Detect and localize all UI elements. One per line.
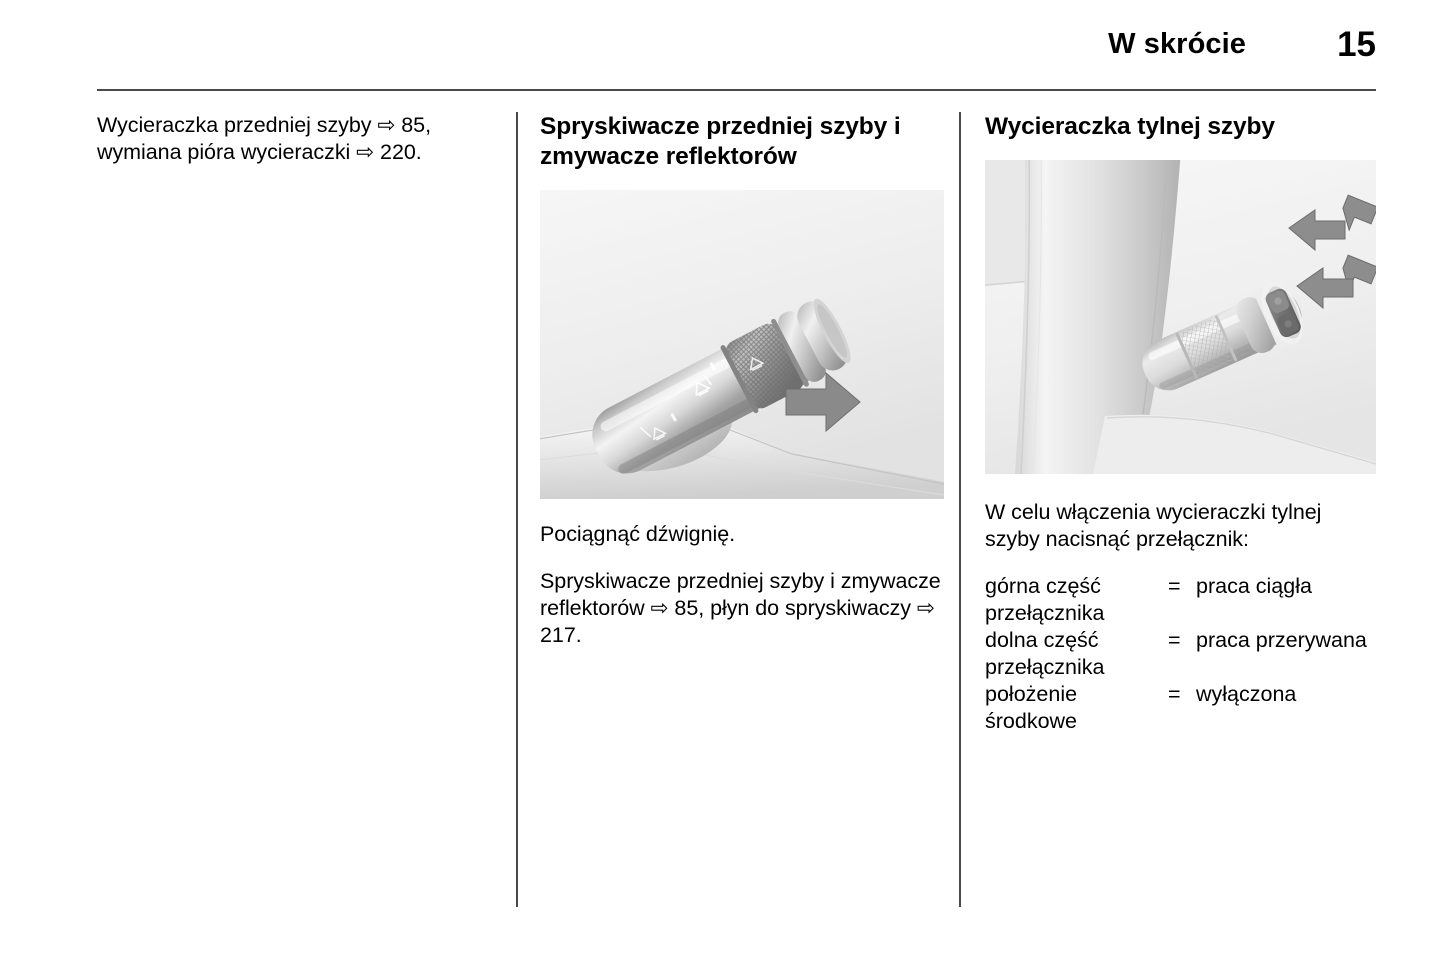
washer-reference-text: Spryskiwacze przedniej szyby i zmywacze … (540, 568, 944, 649)
pull-lever-instruction: Pociągnąć dźwignię. (540, 521, 944, 548)
page-header: W skrócie 15 (97, 28, 1376, 78)
setting-term: położenie środkowe (985, 681, 1165, 735)
setting-definition: praca przerywana (1196, 627, 1381, 654)
front-wiper-reference-text: Wycieraczka przedniej szyby ⇨ 85, wymian… (97, 112, 492, 166)
rear-wiper-section-heading: Wycieraczka tylnej szyby (985, 112, 1376, 142)
setting-equals-sign: = (1168, 681, 1181, 708)
header-divider-rule (97, 89, 1376, 91)
switch-settings-list: górna część przełącznika = praca ciągła … (985, 573, 1376, 735)
rear-wiper-instruction: W celu włączenia wycieraczki tylnej szyb… (985, 499, 1376, 553)
setting-equals-sign: = (1168, 627, 1181, 654)
setting-row: dolna część przełącznika = praca przeryw… (985, 627, 1376, 681)
page-title: W skrócie (1108, 28, 1246, 61)
column-middle: Spryskiwacze przedniej szyby i zmywacze … (540, 112, 944, 669)
setting-definition: praca ciągła (1196, 573, 1381, 600)
column-right: Wycieraczka tylnej szyby (985, 112, 1376, 735)
setting-definition: wyłączona (1196, 681, 1381, 708)
column-divider-left (516, 112, 518, 907)
setting-term: dolna część przełącznika (985, 627, 1165, 681)
column-left: Wycieraczka przedniej szyby ⇨ 85, wymian… (97, 112, 492, 186)
setting-row: położenie środkowe = wyłączona (985, 681, 1376, 735)
column-divider-right (959, 112, 961, 907)
setting-equals-sign: = (1168, 573, 1181, 600)
rear-wiper-switch-illustration (985, 160, 1376, 474)
washer-lever-illustration (540, 190, 944, 499)
setting-term: górna część przełącznika (985, 573, 1165, 627)
page-number: 15 (1337, 25, 1376, 65)
washer-section-heading: Spryskiwacze przedniej szyby i zmywacze … (540, 112, 944, 172)
setting-row: górna część przełącznika = praca ciągła (985, 573, 1376, 627)
